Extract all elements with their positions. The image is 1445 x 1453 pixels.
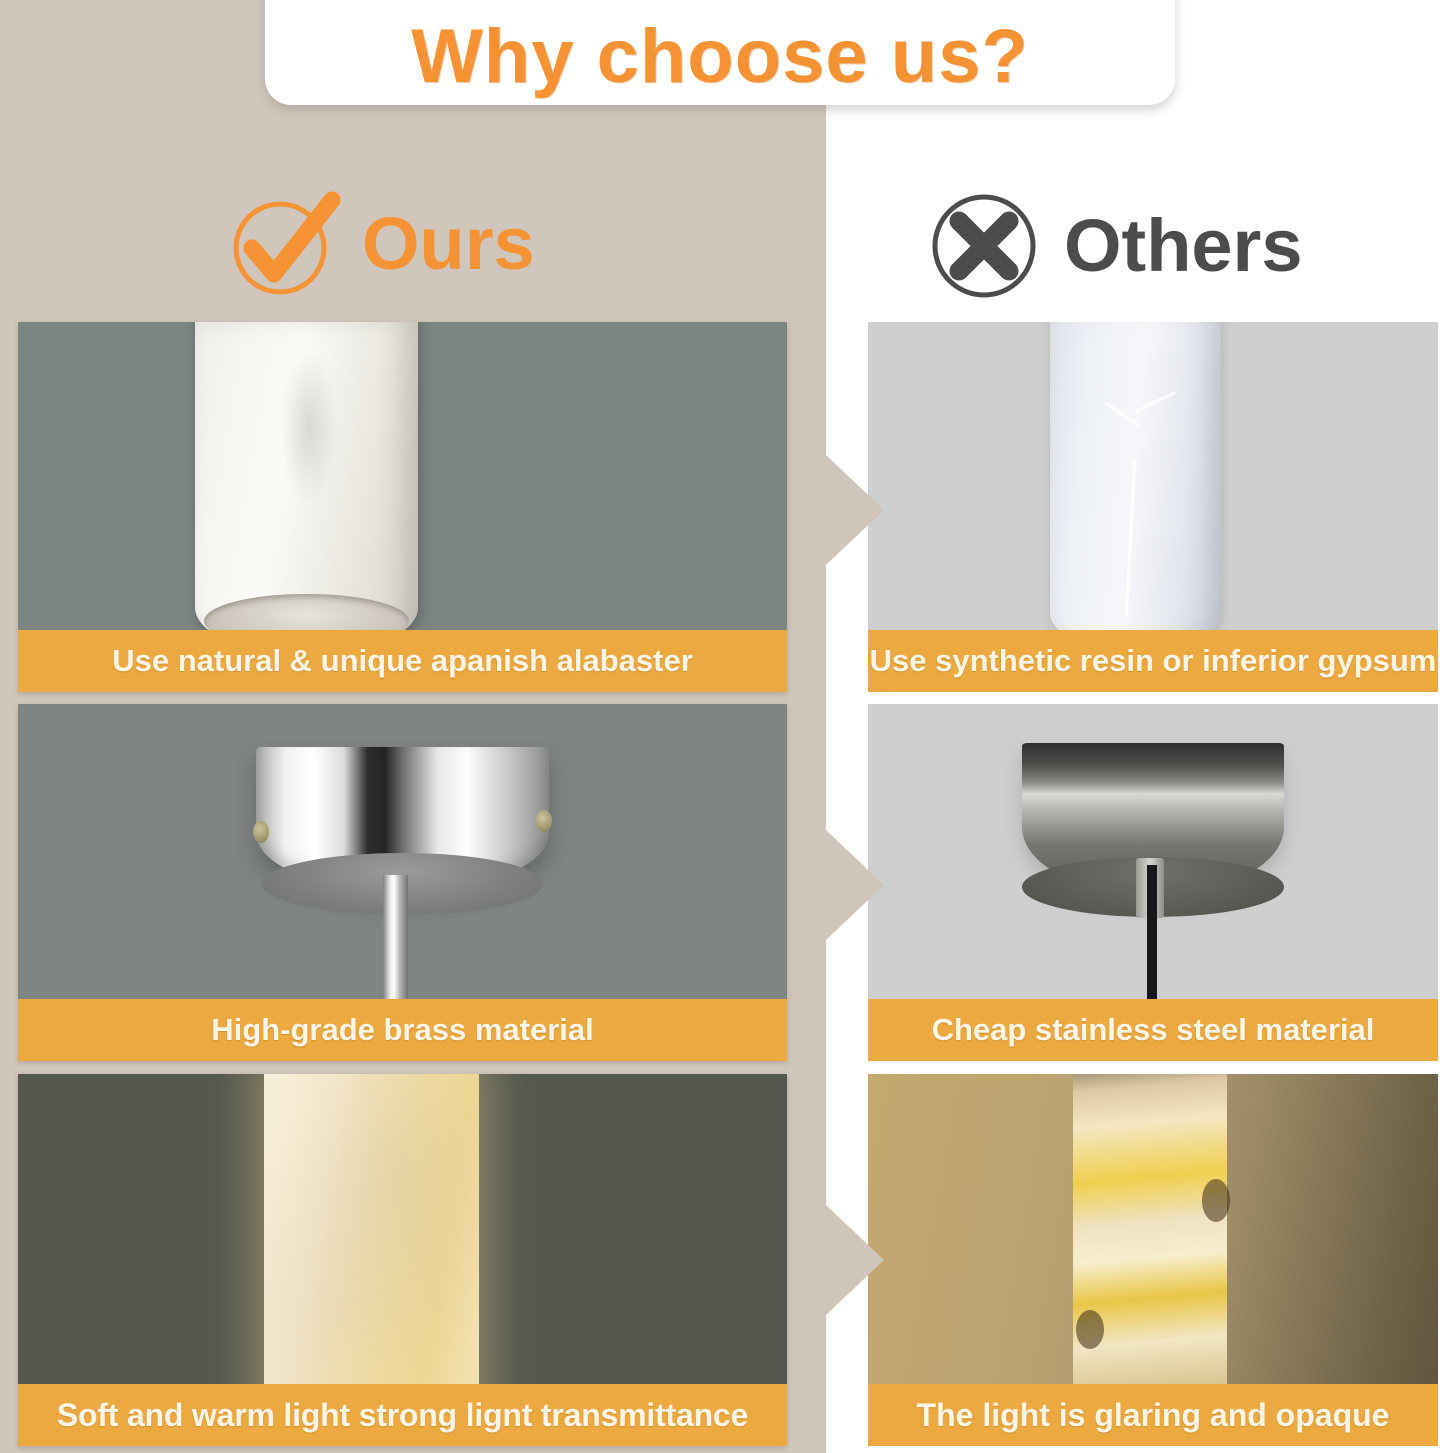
others-label: Others — [1064, 209, 1303, 283]
comparison-arrow-icon — [826, 455, 884, 565]
comparison-arrow-icon — [826, 830, 884, 940]
others-card-row1: Use synthetic resin or inferior gypsum — [868, 322, 1438, 692]
others-caption-row1: Use synthetic resin or inferior gypsum — [868, 630, 1438, 692]
others-caption-row2: Cheap stainless steel material — [868, 999, 1438, 1061]
others-card-row3: The light is glaring and opaque — [868, 1074, 1438, 1446]
check-circle-icon — [228, 188, 340, 300]
ours-label: Ours — [362, 207, 535, 281]
others-caption-row3: The light is glaring and opaque — [868, 1384, 1438, 1446]
ours-caption-row2: High-grade brass material — [18, 999, 787, 1061]
ours-card-row1: Use natural & unique apanish alabaster — [18, 322, 787, 692]
ours-card-row2: High-grade brass material — [18, 704, 787, 1061]
ours-caption-row3: Soft and warm light strong lignt transmi… — [18, 1384, 787, 1446]
others-card-row2: Cheap stainless steel material — [868, 704, 1438, 1061]
comparison-arrow-icon — [826, 1205, 884, 1315]
ours-card-row3: Soft and warm light strong lignt transmi… — [18, 1074, 787, 1446]
page-title: Why choose us? — [411, 19, 1029, 95]
comparison-infographic: Why choose us? Ours Others — [0, 0, 1445, 1453]
ours-caption-row1: Use natural & unique apanish alabaster — [18, 630, 787, 692]
ours-column-heading: Ours — [228, 188, 535, 300]
x-circle-icon — [928, 190, 1040, 302]
header-banner: Why choose us? — [265, 0, 1175, 105]
others-column-heading: Others — [928, 190, 1303, 302]
